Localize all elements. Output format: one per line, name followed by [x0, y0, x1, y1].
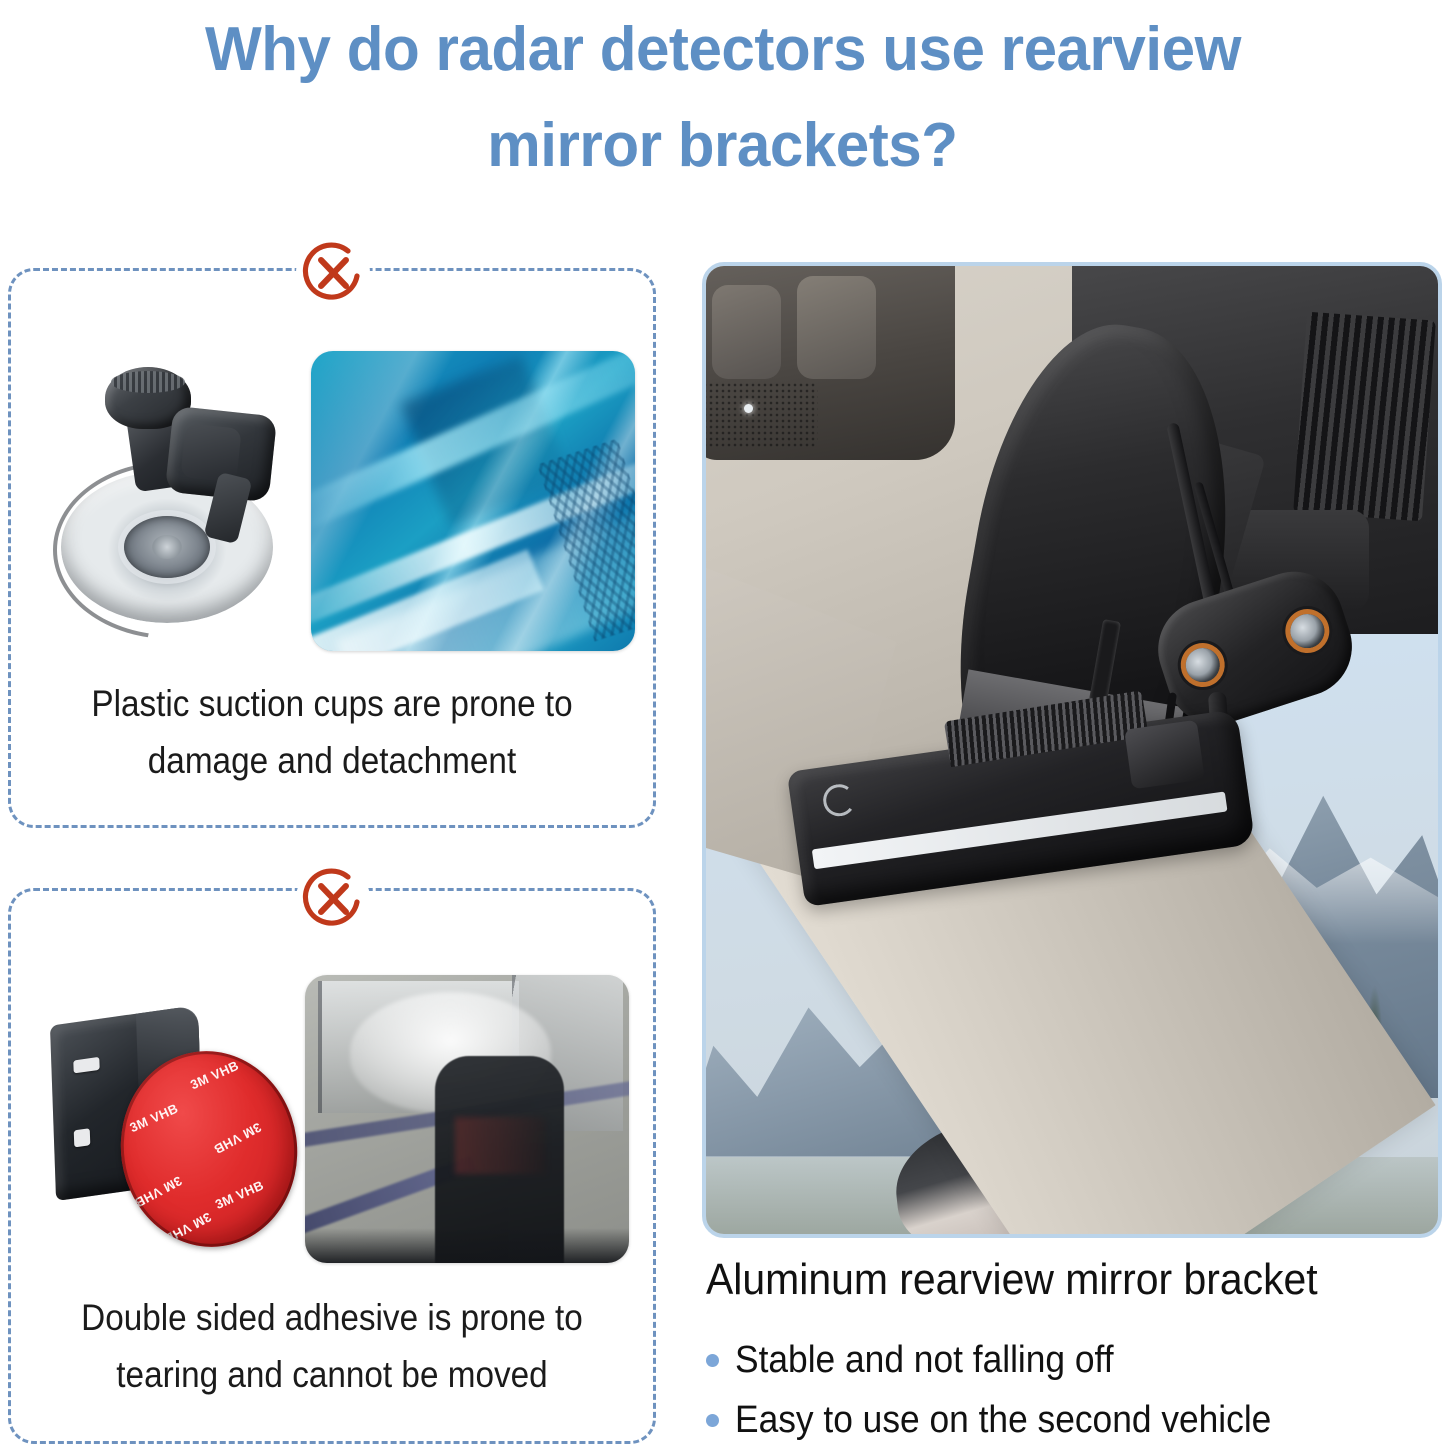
con-card-adhesive: 3M VHB 3M VHB 3M VHB 3M VHB 3M VHB 3M VH…	[8, 888, 656, 1444]
detector-logo	[821, 782, 857, 818]
console-led	[744, 404, 753, 413]
x-cross-circle-icon	[296, 236, 370, 310]
con-card-1-caption-line-1: Plastic suction cups are prone to	[56, 675, 609, 732]
page-title-line-1: Why do radar detectors use rearview	[205, 2, 1241, 98]
bracket-slot-top	[73, 1057, 99, 1074]
con-card-1-media	[11, 271, 653, 675]
page-title: Why do radar detectors use rearview mirr…	[0, 0, 1445, 200]
hero-caption-title: Aluminum rearview mirror bracket	[706, 1253, 1394, 1307]
mirror-slot	[1089, 619, 1121, 704]
link-plate-hole-right	[1286, 610, 1329, 653]
bullet-dot-icon	[706, 1414, 719, 1427]
con-card-1-caption-line-2: damage and detachment	[56, 732, 609, 789]
con-card-2-caption-line-2: tearing and cannot be moved	[56, 1346, 609, 1403]
hero-product-photo	[702, 262, 1442, 1238]
con-card-suction-cup: Plastic suction cups are prone to damage…	[8, 268, 656, 828]
console-speaker-mesh	[702, 383, 818, 447]
bullet-dot-icon	[706, 1354, 719, 1367]
hero-benefits-list: Stable and not falling off Easy to use o…	[706, 1330, 1445, 1450]
con-card-1-caption: Plastic suction cups are prone to damage…	[56, 675, 609, 789]
con-card-2-caption: Double sided adhesive is prone to tearin…	[56, 1289, 609, 1403]
hero-benefit-1: Stable and not falling off	[735, 1337, 1114, 1383]
con-card-2-media: 3M VHB 3M VHB 3M VHB 3M VHB 3M VHB 3M VH…	[11, 891, 653, 1291]
list-item: Stable and not falling off	[706, 1330, 1445, 1390]
console-button-1	[712, 285, 781, 379]
console-button-2	[797, 276, 876, 378]
con-card-2-caption-line-1: Double sided adhesive is prone to	[56, 1289, 609, 1346]
thumbnail-bottom-shadow	[305, 1228, 629, 1263]
detector-lens	[1124, 720, 1204, 789]
page-title-line-2: mirror brackets?	[487, 98, 957, 194]
list-item: Easy to use on the second vehicle	[706, 1390, 1445, 1450]
console-vent	[1294, 312, 1437, 522]
link-plate-hole-left	[1181, 644, 1224, 687]
bracket-slot-bottom	[74, 1128, 91, 1147]
adhesive-bracket-image: 3M VHB 3M VHB 3M VHB 3M VHB 3M VHB 3M VH…	[47, 1011, 297, 1251]
detached-mount-thumbnail	[305, 975, 629, 1263]
x-cross-circle-icon	[296, 862, 370, 936]
overhead-console-left	[702, 262, 955, 460]
suction-cup-mount-image	[53, 367, 283, 629]
hero-benefit-2: Easy to use on the second vehicle	[735, 1397, 1271, 1443]
cracked-glass-thumbnail	[311, 351, 635, 651]
